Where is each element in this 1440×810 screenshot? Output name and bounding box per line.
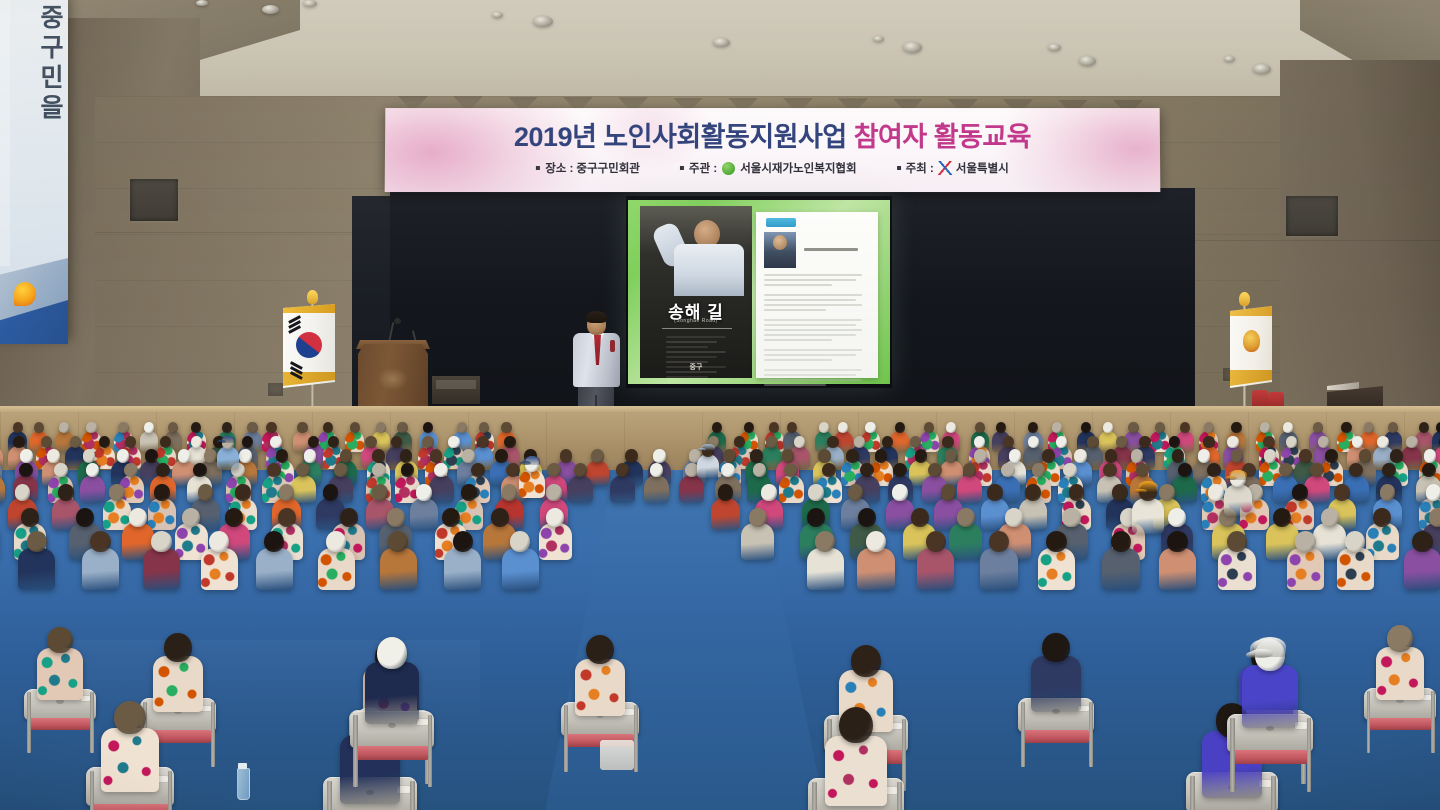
audience-member-head xyxy=(928,463,942,478)
audience-member-head xyxy=(808,484,824,501)
audience-member-head xyxy=(1231,422,1241,433)
banner-info-host: 주최 : 서울특별시 xyxy=(897,160,1009,176)
audience-member-head xyxy=(400,449,413,462)
audience-member-torso xyxy=(1038,548,1075,590)
audience-member-head xyxy=(744,422,754,433)
audience-member-head xyxy=(86,422,96,433)
audience-member-head xyxy=(1436,422,1440,433)
projection-screen: 송해 길 (Songhae Road) 중구 xyxy=(626,196,892,388)
audience-member-head xyxy=(308,436,319,448)
audience-member-head xyxy=(1167,531,1187,553)
chair-leg xyxy=(1230,718,1235,792)
audience-member-head xyxy=(1009,449,1022,462)
audience-member-torso xyxy=(217,446,238,470)
audience-member-torso xyxy=(679,475,704,503)
bullet-icon xyxy=(680,166,684,170)
audience-member-head xyxy=(915,449,928,462)
audience-member-head xyxy=(266,422,276,433)
audience-member-head xyxy=(83,449,96,462)
audience-member-head xyxy=(502,484,518,501)
audience-member-torso xyxy=(1376,647,1423,700)
audience-member-head xyxy=(1310,463,1324,478)
document-text-line xyxy=(764,299,856,301)
audience-member-head xyxy=(1295,531,1315,553)
audience-member-head xyxy=(1028,436,1039,448)
audience-member-torso xyxy=(1172,475,1197,503)
audience-member-head xyxy=(854,436,865,448)
presenter-hair xyxy=(586,311,607,323)
audience-member-head xyxy=(54,463,68,478)
audience-member-head xyxy=(1273,508,1291,527)
audience-member-head xyxy=(625,449,638,462)
audience-member-head xyxy=(974,436,985,448)
downlight-5 xyxy=(713,38,730,47)
downlight-6 xyxy=(873,36,884,42)
downlight-8 xyxy=(1048,44,1061,51)
audience-member-head xyxy=(718,484,734,501)
audience-member-head xyxy=(495,449,508,462)
audience-member-head xyxy=(1128,422,1138,433)
audience-member-head xyxy=(334,463,348,478)
audience-member-torso xyxy=(957,475,982,503)
audience-member-torso xyxy=(410,498,439,530)
taeguk-symbol-icon xyxy=(296,332,322,358)
slide-photo-panel: 송해 길 (Songhae Road) 중구 xyxy=(640,206,752,378)
downlight-11 xyxy=(1253,64,1271,74)
chair-leg xyxy=(428,715,432,787)
audience-member-head xyxy=(1321,508,1339,527)
audience-member-head xyxy=(144,422,154,433)
audience-member-head xyxy=(1388,422,1398,433)
flagpole-finial-right xyxy=(1239,292,1250,306)
audience-member-head xyxy=(1377,436,1388,448)
downlight-9 xyxy=(1079,56,1096,66)
audience-member-head xyxy=(397,422,407,433)
audience-member-head xyxy=(712,422,722,433)
audience-member-head xyxy=(1087,436,1098,448)
audience-member-head xyxy=(910,436,921,448)
left-banner-text: 중구민을 xyxy=(20,4,62,124)
audience-member-head xyxy=(782,449,795,462)
audience-member-head xyxy=(723,449,736,462)
document-text-line xyxy=(764,284,832,286)
audience-member-head xyxy=(204,449,217,462)
audience-member-head xyxy=(109,484,125,501)
chair-seat-cushion xyxy=(90,804,169,810)
microphone-head xyxy=(394,318,401,324)
audience-member-torso xyxy=(201,548,238,590)
audience-member-head xyxy=(340,508,358,527)
audience-member-head xyxy=(1204,422,1214,433)
audience-member-head xyxy=(13,436,24,448)
audience-member-head xyxy=(114,701,145,734)
audience-member-head xyxy=(1112,484,1128,501)
audience-member-head xyxy=(504,436,515,448)
banner-info-host-value: 서울특별시 xyxy=(956,160,1009,176)
document-text-line xyxy=(764,319,862,321)
chair-leg xyxy=(1367,691,1371,753)
audience-member-torso xyxy=(1304,475,1329,503)
audience-member-torso xyxy=(807,548,844,590)
document-text-line xyxy=(764,329,862,331)
audience-member-head xyxy=(794,436,805,448)
audience-member-head xyxy=(1103,463,1117,478)
chair-leg xyxy=(897,782,902,810)
audience-member-torso xyxy=(539,523,572,560)
audience-member-head xyxy=(1168,508,1186,527)
audience-member-head xyxy=(591,449,604,462)
audience-member-torso xyxy=(519,469,545,498)
audience-member-head xyxy=(818,449,831,462)
audience-member-torso xyxy=(444,548,481,590)
audience-member-head xyxy=(198,484,214,501)
audience-member-head xyxy=(376,422,386,433)
audience-member-torso xyxy=(644,475,669,503)
downlight-14 xyxy=(196,0,208,6)
audience-member-head xyxy=(1359,449,1372,462)
audience-member-head xyxy=(506,463,520,478)
audience-member-head xyxy=(160,436,171,448)
audience-member-torso xyxy=(1102,548,1139,590)
banner-info-organizer: 주관 : 서울시재가노인복지협회 xyxy=(680,160,857,176)
audience-member-head xyxy=(1264,449,1277,462)
audience-member-head xyxy=(560,449,573,462)
audience-member-torso xyxy=(1218,548,1255,590)
audience-member-torso xyxy=(779,475,804,503)
downlight-3 xyxy=(492,12,503,18)
audience-member-head xyxy=(1424,449,1437,462)
audience-member-head xyxy=(819,422,829,433)
chair-leg xyxy=(1021,702,1025,768)
jung-gu-emblem-icon xyxy=(14,282,36,306)
audience-member-head xyxy=(839,707,873,743)
photo-person-body xyxy=(674,244,744,296)
audience-cap-brim xyxy=(1250,649,1273,657)
audience-member-head xyxy=(90,531,110,553)
bullet-icon xyxy=(536,166,540,170)
audience-member-head xyxy=(365,436,376,448)
audience-member-head xyxy=(340,449,353,462)
audience-member-head xyxy=(1155,422,1165,433)
audience-member-head xyxy=(372,484,388,501)
audience-member-torso xyxy=(1404,548,1440,590)
wall-outlet-left xyxy=(268,383,283,396)
audience-member-head xyxy=(151,531,171,553)
audience-member-head xyxy=(1139,436,1150,448)
banner-info-organizer-label: 주관 : xyxy=(689,160,717,176)
audience-member-head xyxy=(1105,449,1118,462)
banner-subtitle-row: 장소 : 중구구민회관 주관 : 서울시재가노인복지협회 주최 : 서울특별시 xyxy=(385,160,1160,176)
audience-member-head xyxy=(267,463,281,478)
audience-member-head xyxy=(1042,633,1069,662)
audience-member-head xyxy=(941,484,957,501)
audience-member-head xyxy=(851,645,881,677)
audience-member-head xyxy=(99,436,110,448)
audience-member-head xyxy=(1178,463,1192,478)
banner-info-venue-label: 장소 : xyxy=(545,160,573,176)
audience-member-head xyxy=(1103,422,1113,433)
banner-info-organizer-value: 서울시재가노인복지협회 xyxy=(740,160,856,176)
chair-seat-cushion xyxy=(28,718,92,730)
document-text-line xyxy=(764,349,862,351)
document-heading-line xyxy=(804,248,858,251)
chair-leg xyxy=(211,702,215,768)
document-text-line xyxy=(764,369,862,371)
audience-member-head xyxy=(372,449,385,462)
chair-leg xyxy=(90,771,95,810)
slide-text-line xyxy=(666,356,717,358)
audience-member-head xyxy=(865,422,875,433)
audience-member-head xyxy=(239,449,252,462)
seoul-flag-emblem-icon xyxy=(1243,330,1260,352)
audience-member-head xyxy=(154,484,170,501)
green-circle-logo-icon xyxy=(722,162,735,175)
audience-member-head xyxy=(279,484,295,501)
left-banner-edge-strip: 한드 xyxy=(0,0,10,266)
audience-member-head xyxy=(328,436,339,448)
audience-member-head xyxy=(510,531,530,553)
audience-member-torso xyxy=(610,475,635,503)
document-text-line xyxy=(764,279,856,281)
document-text-line xyxy=(764,274,862,276)
audience-member-head xyxy=(860,463,874,478)
auditorium-photo: 중구민을 한드 2019년 노인사회활동지원사업 참여자 활동교육 장소 : 중… xyxy=(0,0,1440,810)
audience-member-torso xyxy=(18,548,55,590)
audience-member-head xyxy=(987,484,1003,501)
audience-member-head xyxy=(546,484,562,501)
chair-leg xyxy=(27,692,31,753)
chair-seat-cushion xyxy=(1367,718,1432,730)
audience-member-head xyxy=(19,463,33,478)
audience-member-head xyxy=(1025,484,1041,501)
audience-member-head xyxy=(296,463,310,478)
slide-footer-label: 중구 xyxy=(640,362,752,372)
audience-member-head xyxy=(1069,484,1085,501)
banner-title: 2019년 노인사회활동지원사업 참여자 활동교육 xyxy=(385,115,1160,154)
chair-leg xyxy=(1307,718,1312,792)
audience-member-head xyxy=(276,449,289,462)
document-tag-badge xyxy=(766,218,796,227)
audience-member-head xyxy=(1429,508,1440,527)
audience-member-head xyxy=(807,508,825,527)
seoul-city-logo-icon xyxy=(938,161,952,175)
audience-member-head xyxy=(1042,449,1055,462)
audience-member-head xyxy=(946,422,956,433)
audience-member-head xyxy=(27,531,47,553)
audience-member-head xyxy=(957,508,975,527)
audience-member-head xyxy=(118,422,128,433)
chair-leg xyxy=(1089,702,1093,768)
document-text-line xyxy=(764,309,826,311)
audience-member-head xyxy=(178,449,191,462)
audience-member-torso xyxy=(697,454,718,478)
audience-member-head xyxy=(1003,436,1014,448)
audience-member-torso xyxy=(380,548,417,590)
audience-member-head xyxy=(326,531,346,553)
audience-member-head xyxy=(1387,625,1413,652)
audience-member-head xyxy=(387,508,405,527)
audience-member-head xyxy=(1001,463,1015,478)
audience-member-head xyxy=(1208,484,1224,501)
podium-emblem xyxy=(378,368,408,390)
audience-member-head xyxy=(1286,436,1297,448)
audience-member-head xyxy=(1005,508,1023,527)
chair-leg xyxy=(812,782,817,810)
audience-member-head xyxy=(882,436,893,448)
audience-member-torso xyxy=(825,736,887,806)
chair-leg xyxy=(1190,776,1195,810)
audience-member-torso xyxy=(429,475,454,503)
audience-member-head xyxy=(846,449,859,462)
banner-info-venue: 장소 : 중구구민회관 xyxy=(536,160,640,176)
audience-member-head xyxy=(145,449,158,462)
audience-member-head xyxy=(1325,449,1338,462)
white-bag xyxy=(600,740,634,770)
audience-member-head xyxy=(1345,531,1365,553)
document-text-line xyxy=(764,354,856,356)
audience-member-head xyxy=(848,484,864,501)
audience-member-head xyxy=(942,436,953,448)
audience-member-head xyxy=(41,436,52,448)
audience-member-head xyxy=(1131,449,1144,462)
audience-member-head xyxy=(1279,463,1293,478)
audience-member-head xyxy=(975,422,985,433)
audience-member-torso xyxy=(256,548,293,590)
audience-member-torso xyxy=(153,656,203,712)
document-text-line xyxy=(764,379,862,381)
audience-member-torso xyxy=(365,662,420,724)
audience-member-head xyxy=(377,637,407,669)
slide-subtitle: (Songhae Road) xyxy=(640,318,752,324)
audience-member-head xyxy=(1046,531,1066,553)
audience-member-head xyxy=(13,422,23,433)
document-text-line xyxy=(764,304,862,306)
banner-info-venue-value: 중구구민회관 xyxy=(576,160,640,176)
audience-member-head xyxy=(1292,484,1308,501)
document-text-line xyxy=(764,294,862,296)
audience-member-torso xyxy=(568,475,593,503)
document-portrait-head xyxy=(773,235,787,250)
audience-member-head xyxy=(1406,436,1417,448)
audience-member-head xyxy=(491,508,509,527)
flagpole-finial-left xyxy=(307,290,318,304)
audience-member-head xyxy=(430,449,443,462)
audience-member-head xyxy=(945,449,958,462)
audience-member-head xyxy=(388,531,408,553)
audience-member-head xyxy=(586,635,614,665)
slide-text-line xyxy=(666,351,726,353)
audience-member-head xyxy=(1169,436,1180,448)
audience-member-head xyxy=(750,449,763,462)
chair-leg xyxy=(1271,776,1276,810)
chair-leg xyxy=(1431,691,1435,753)
audience-member-head xyxy=(156,463,170,478)
water-bottle-cap xyxy=(238,763,247,769)
audience-member-head xyxy=(471,463,485,478)
audience-member-torso xyxy=(502,548,539,590)
audience-member-head xyxy=(242,436,253,448)
audience-member-head xyxy=(323,422,333,433)
audience-member-torso xyxy=(143,548,180,590)
audience-member-torso xyxy=(917,548,954,590)
audience-member-head xyxy=(297,422,307,433)
bullet-icon xyxy=(897,166,901,170)
audience-member-head xyxy=(1341,422,1351,433)
banner-title-program: 노인사회활동지원사업 xyxy=(603,122,853,152)
audience-member-head xyxy=(875,449,888,462)
audience-member-head xyxy=(721,463,735,478)
audience-cap-brim xyxy=(1225,476,1237,480)
audience-member-head xyxy=(1412,531,1432,553)
audience-member-head xyxy=(749,508,767,527)
audience-member-head xyxy=(462,449,475,462)
audience-member-head xyxy=(58,484,74,501)
audience-member-head xyxy=(1373,508,1391,527)
audience-member-head xyxy=(193,463,207,478)
downlight-10 xyxy=(1224,56,1235,62)
audience-member-head xyxy=(1382,463,1396,478)
document-text-line xyxy=(764,374,856,376)
downlight-2 xyxy=(303,0,317,7)
audience-member-head xyxy=(1390,449,1403,462)
slide-text-line xyxy=(666,376,708,378)
event-banner: 2019년 노인사회활동지원사업 참여자 활동교육 장소 : 중구구민회관 주관… xyxy=(385,108,1161,192)
chair-leg xyxy=(168,771,173,810)
audience-member-head xyxy=(125,436,136,448)
audience-member-head xyxy=(1352,436,1363,448)
audience-member-head xyxy=(21,508,39,527)
wall-seam-2 xyxy=(1190,240,1440,241)
audience-member-head xyxy=(895,422,905,433)
audience-member-head xyxy=(350,422,360,433)
audience-member-head xyxy=(546,508,564,527)
water-bottle xyxy=(237,768,250,800)
audience-member-torso xyxy=(80,475,105,503)
audience-member-head xyxy=(247,422,257,433)
wall-vent-left xyxy=(130,179,178,221)
audience-member-torso xyxy=(1159,548,1196,590)
audience-member-head xyxy=(1203,436,1214,448)
audience-member-head xyxy=(129,508,147,527)
document-text-line xyxy=(764,339,832,341)
slide-text-line xyxy=(666,341,717,343)
audience-member-head xyxy=(1263,436,1274,448)
audience-member-torso xyxy=(741,523,774,560)
audience-member-head xyxy=(225,508,243,527)
downlight-1 xyxy=(262,5,279,14)
audience-member-head xyxy=(1334,484,1350,501)
audience-member-head xyxy=(911,508,929,527)
chair-seat-cushion xyxy=(1022,730,1091,743)
audience-member-head xyxy=(442,508,460,527)
audience-member-head xyxy=(858,508,876,527)
audience-member-head xyxy=(827,436,838,448)
audience-member-head xyxy=(235,484,251,501)
chair-leg xyxy=(90,692,94,753)
audience-member-head xyxy=(1198,449,1211,462)
audience-member-torso xyxy=(148,498,177,530)
banner-title-subject: 참여자 활동교육 xyxy=(854,122,1031,152)
document-text-line xyxy=(764,384,826,386)
slide-background: 송해 길 (Songhae Road) 중구 xyxy=(628,200,890,384)
audience-member-head xyxy=(1062,508,1080,527)
presenter-microphone xyxy=(610,340,615,352)
audience-member-head xyxy=(168,422,178,433)
wall-vent-right xyxy=(1286,196,1338,236)
audience-member-head xyxy=(117,449,130,462)
audience-member-head xyxy=(76,508,94,527)
chair-leg xyxy=(410,781,415,810)
